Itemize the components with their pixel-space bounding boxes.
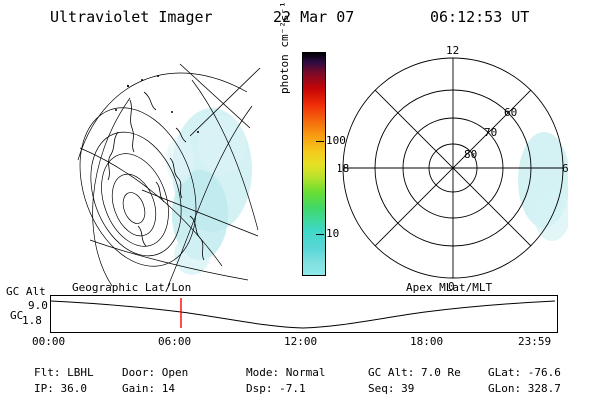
footer-glon-value: 328.7: [528, 382, 561, 395]
geographic-map-panel: [72, 40, 262, 290]
header-time: 06:12:53 UT: [430, 8, 529, 26]
footer-gcalt-value: 7.0 Re: [421, 366, 461, 379]
geographic-panel-caption: Geographic Lat/Lon: [72, 281, 191, 294]
footer-flt-value: LBHL: [67, 366, 94, 379]
apex-panel-caption: Apex MLat/MLT: [406, 281, 492, 294]
ts-plot-box: [50, 295, 558, 333]
footer-glat-label: GLat:: [488, 366, 528, 379]
footer-gcalt-label: GC Alt:: [368, 366, 421, 379]
footer-ip-label: IP:: [34, 382, 61, 395]
footer-seq-value: 39: [401, 382, 414, 395]
footer-gain: Gain: 14: [122, 382, 175, 395]
apex-mlt-label-12: 12: [446, 44, 459, 57]
ts-xtick-0600: 06:00: [158, 335, 191, 348]
geographic-map-svg: [72, 40, 262, 290]
ts-orbit-curve: [51, 296, 555, 330]
footer-glon: GLon: 328.7: [488, 382, 561, 395]
footer-door: Door: Open: [122, 366, 188, 379]
apex-polar-panel: 60 70 80 12 18 6 0: [338, 40, 568, 290]
uvi-summary-plot: Ultraviolet Imager 22 Mar 07 06:12:53 UT: [0, 0, 600, 400]
ts-xtick-1200: 12:00: [284, 335, 317, 348]
apex-mlat-label-80: 80: [464, 148, 477, 161]
ts-ylabel-line1: GC Alt: [6, 285, 46, 298]
footer-ip-value: 36.0: [61, 382, 88, 395]
footer-glat-value: -76.6: [528, 366, 561, 379]
colorbar-tick-line: [316, 234, 324, 235]
footer-door-label: Door:: [122, 366, 162, 379]
apex-polar-svg: 60 70 80 12 18 6 0: [338, 40, 568, 290]
footer-gcalt: GC Alt: 7.0 Re: [368, 366, 461, 379]
footer-mode: Mode: Normal: [246, 366, 326, 379]
footer-dsp-value: -7.1: [279, 382, 306, 395]
footer-glon-label: GLon:: [488, 382, 528, 395]
footer-dsp: Dsp: -7.1: [246, 382, 306, 395]
footer-mode-value: Normal: [286, 366, 326, 379]
footer-gain-label: Gain:: [122, 382, 162, 395]
footer-gain-value: 14: [162, 382, 175, 395]
ts-xtick-2359: 23:59: [518, 335, 551, 348]
ts-xtick-1800: 18:00: [410, 335, 443, 348]
colorbar-gradient: [302, 52, 326, 276]
colorbar-tick-line: [316, 141, 324, 142]
ts-xtick-0000: 00:00: [32, 335, 65, 348]
footer-glat: GLat: -76.6: [488, 366, 561, 379]
footer-seq: Seq: 39: [368, 382, 414, 395]
footer-mode-label: Mode:: [246, 366, 286, 379]
footer-door-value: Open: [162, 366, 189, 379]
spacecraft-altitude-panel: GC Alt GC 9.0 1.8 Geographic Lat/Lon Ape…: [50, 295, 556, 343]
ts-ytick-9: 9.0: [28, 299, 48, 312]
apex-mlt-label-18: 18: [338, 162, 349, 175]
footer-seq-label: Seq:: [368, 382, 401, 395]
header: Ultraviolet Imager 22 Mar 07 06:12:53 UT: [0, 8, 600, 30]
colorbar-axis-label: photon cm⁻²s⁻¹: [278, 1, 291, 94]
ts-ytick-18: 1.8: [22, 314, 42, 327]
footer-flt: Flt: LBHL: [34, 366, 94, 379]
page-title: Ultraviolet Imager: [50, 8, 213, 26]
footer-ip: IP: 36.0: [34, 382, 87, 395]
apex-mlat-label-60: 60: [504, 106, 517, 119]
footer-flt-label: Flt:: [34, 366, 67, 379]
apex-mlat-label-70: 70: [484, 126, 497, 139]
footer-dsp-label: Dsp:: [246, 382, 279, 395]
apex-mlt-label-6: 6: [562, 162, 568, 175]
